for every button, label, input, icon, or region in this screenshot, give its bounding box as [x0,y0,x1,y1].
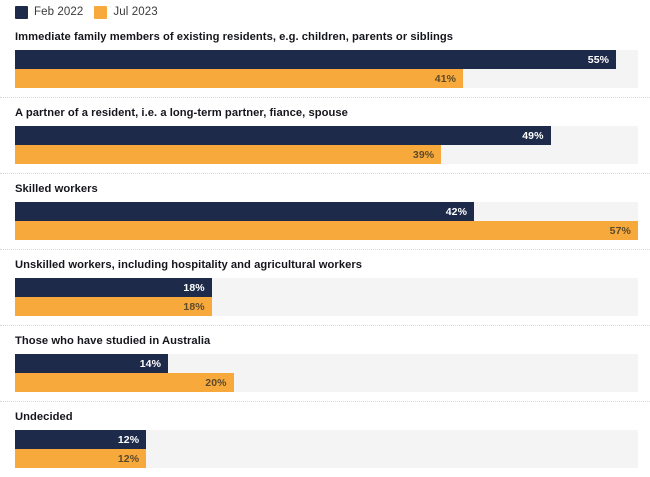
category-label: Immediate family members of existing res… [0,22,650,50]
legend-item-feb-2022[interactable]: Feb 2022 [15,6,83,19]
bar-value-label: 18% [183,301,211,313]
category-bars: 55%41% [15,50,638,88]
bar-group: A partner of a resident, i.e. a long-ter… [0,97,650,173]
category-bars: 49%39% [15,126,638,164]
category-label: Unskilled workers, including hospitality… [0,250,650,278]
bar-jul-2023[interactable]: 39% [15,145,441,164]
group-spacer [0,164,650,173]
bar-group: Skilled workers42%57% [0,173,650,249]
group-spacer [0,468,650,477]
bar-group-list: Immediate family members of existing res… [0,22,650,477]
bar-feb-2022[interactable]: 49% [15,126,551,145]
group-spacer [0,392,650,401]
category-label: A partner of a resident, i.e. a long-ter… [0,98,650,126]
bar-value-label: 12% [118,453,146,465]
bar-track: 12% [15,430,638,449]
chart-legend: Feb 2022 Jul 2023 [0,0,650,22]
bar-feb-2022[interactable]: 55% [15,50,616,69]
legend-swatch-feb-2022 [15,6,28,19]
bar-jul-2023[interactable]: 18% [15,297,212,316]
bar-track: 49% [15,126,638,145]
group-spacer [0,240,650,249]
bar-value-label: 57% [610,225,638,237]
group-spacer [0,88,650,97]
category-bars: 14%20% [15,354,638,392]
bar-value-label: 41% [435,73,463,85]
bar-feb-2022[interactable]: 12% [15,430,146,449]
category-bars: 18%18% [15,278,638,316]
legend-label-jul-2023: Jul 2023 [113,6,157,18]
bar-value-label: 49% [522,130,550,142]
category-bars: 12%12% [15,430,638,468]
bar-jul-2023[interactable]: 12% [15,449,146,468]
category-label: Those who have studied in Australia [0,326,650,354]
category-label: Undecided [0,402,650,430]
bar-track: 14% [15,354,638,373]
grouped-bar-chart: Feb 2022 Jul 2023 Immediate family membe… [0,0,650,441]
legend-swatch-jul-2023 [94,6,107,19]
bar-feb-2022[interactable]: 18% [15,278,212,297]
bar-group: Those who have studied in Australia14%20… [0,325,650,401]
bar-feb-2022[interactable]: 14% [15,354,168,373]
category-label: Skilled workers [0,174,650,202]
bar-track: 57% [15,221,638,240]
bar-value-label: 55% [588,54,616,66]
bar-jul-2023[interactable]: 20% [15,373,234,392]
bar-value-label: 39% [413,149,441,161]
bar-track: 18% [15,297,638,316]
category-bars: 42%57% [15,202,638,240]
bar-value-label: 18% [183,282,211,294]
bar-track: 41% [15,69,638,88]
bar-jul-2023[interactable]: 41% [15,69,463,88]
bar-group: Immediate family members of existing res… [0,22,650,97]
bar-track: 39% [15,145,638,164]
bar-track: 42% [15,202,638,221]
bar-feb-2022[interactable]: 42% [15,202,474,221]
bar-track: 55% [15,50,638,69]
bar-jul-2023[interactable]: 57% [15,221,638,240]
group-spacer [0,316,650,325]
bar-track: 20% [15,373,638,392]
bar-value-label: 42% [446,206,474,218]
bar-group: Unskilled workers, including hospitality… [0,249,650,325]
bar-value-label: 14% [140,358,168,370]
legend-item-jul-2023[interactable]: Jul 2023 [94,6,157,19]
legend-label-feb-2022: Feb 2022 [34,6,83,18]
bar-track: 18% [15,278,638,297]
bar-value-label: 20% [205,377,233,389]
bar-value-label: 12% [118,434,146,446]
bar-track: 12% [15,449,638,468]
bar-group: Undecided12%12% [0,401,650,477]
